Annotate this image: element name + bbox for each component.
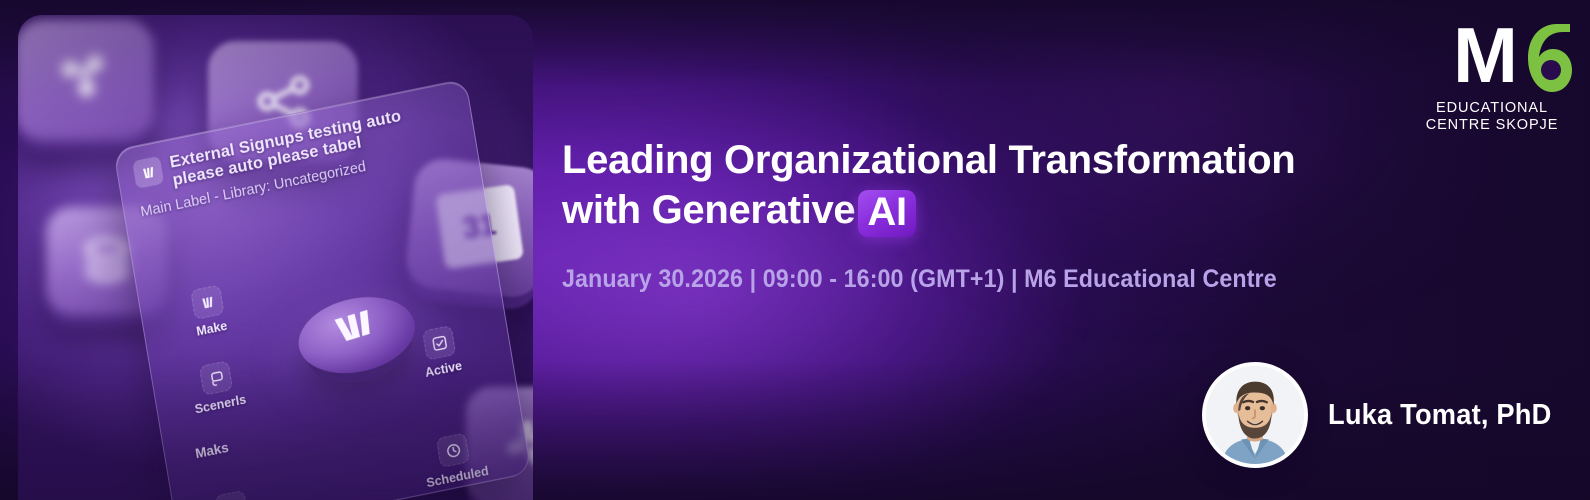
logo-subtitle-line-1: EDUCATIONAL <box>1412 100 1572 117</box>
speaker-name: Luka Tomat, PhD <box>1328 399 1551 432</box>
headline-line-1: Leading Organizational Transformation <box>562 136 1442 186</box>
make-logo-icon <box>132 156 164 189</box>
logo-letter-m: M <box>1453 16 1512 94</box>
page-title: Leading Organizational Transformation wi… <box>562 136 1442 237</box>
card-item-teads: Teads <box>191 485 276 500</box>
card-item-scheduled: Scheduled <box>412 428 497 492</box>
card-item-make: Make <box>167 280 252 344</box>
clock-history-icon <box>436 432 470 468</box>
card-item-maks: Maks <box>173 436 252 466</box>
card-item-scenarios: Scenerls <box>175 355 260 419</box>
logo-subtitle: EDUCATIONAL CENTRE SKOPJE <box>1412 100 1572 134</box>
card-item-label: Make <box>195 319 228 339</box>
speaker-block: Luka Tomat, PhD <box>1202 362 1566 468</box>
make-logo-icon <box>190 284 224 320</box>
logo-mark: M <box>1412 22 1572 94</box>
m6-logo: M EDUCATIONAL CENTRE SKOPJE <box>1412 22 1572 134</box>
keycap-share-nodes <box>18 19 154 141</box>
event-meta: January 30.2026 | 09:00 - 16:00 (GMT+1) … <box>562 265 1277 294</box>
ai-highlight-badge: AI <box>858 190 915 237</box>
card-item-label: Scenerls <box>194 393 247 417</box>
headline-line-2-text: with Generative <box>562 188 855 232</box>
avatar <box>1202 362 1308 468</box>
make-coin-3d <box>289 265 424 405</box>
share-nodes-icon <box>18 19 154 141</box>
event-banner: 31 <box>0 0 1590 500</box>
scenario-icon <box>199 360 233 396</box>
hero-image-panel: 31 <box>18 15 533 500</box>
ui-mock-card: External Signups testing auto please aut… <box>113 78 532 500</box>
logo-subtitle-line-2: CENTRE SKOPJE <box>1412 117 1572 134</box>
threads-icon <box>214 490 248 500</box>
logo-letter-six <box>1510 22 1572 94</box>
card-item-label: Maks <box>194 440 230 462</box>
headline-line-2: with GenerativeAI <box>562 186 1442 237</box>
